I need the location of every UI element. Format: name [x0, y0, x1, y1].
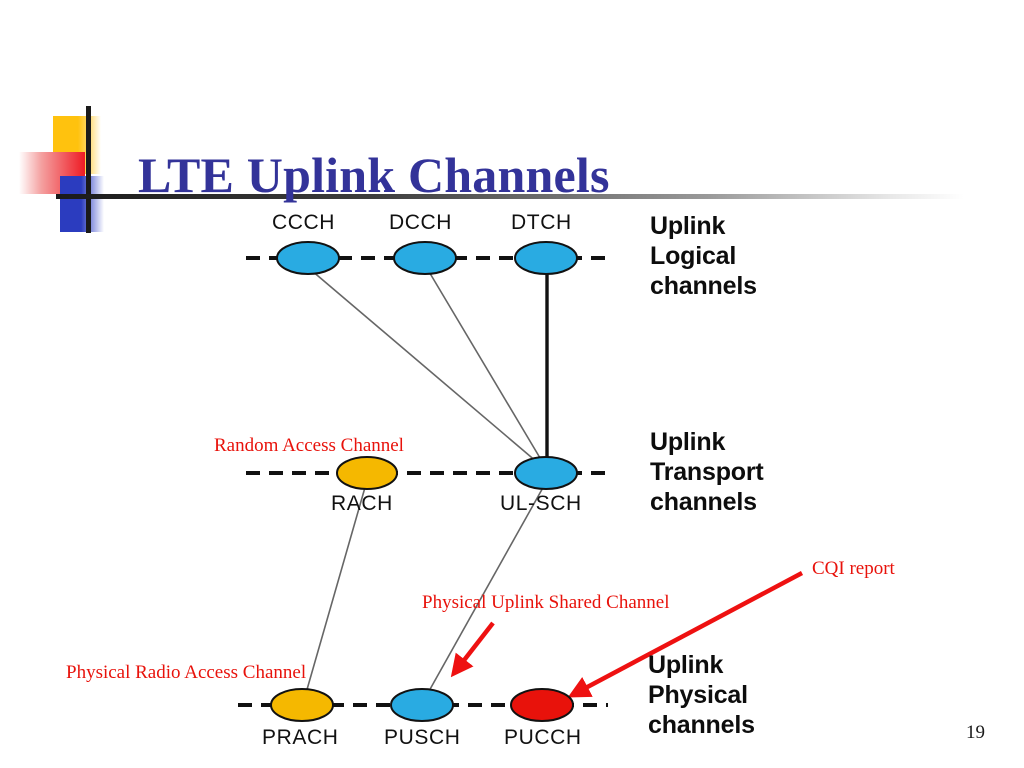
node-ul-sch[interactable] — [515, 457, 577, 489]
mapping-line-dcch-ulsch — [428, 270, 546, 468]
annotation-random-access-channel: Random Access Channel — [214, 435, 404, 457]
node-ccch[interactable] — [277, 242, 339, 274]
mapping-line-rach-prach — [304, 484, 366, 700]
row-label-logical: Uplink Logical channels — [650, 211, 757, 301]
node-caption-pusch: PUSCH — [384, 726, 461, 750]
row-label-logical-line-3: channels — [650, 271, 757, 301]
page-number: 19 — [966, 722, 985, 744]
row-label-physical-line-3: channels — [648, 710, 755, 740]
node-caption-ul-sch: UL-SCH — [500, 492, 582, 516]
annotation-cqi-report: CQI report — [812, 558, 895, 580]
row-label-transport-line-3: channels — [650, 487, 764, 517]
row-label-transport: Uplink Transport channels — [650, 427, 764, 517]
node-caption-pucch: PUCCH — [504, 726, 582, 750]
node-prach[interactable] — [271, 689, 333, 721]
diagram-canvas — [0, 0, 1024, 768]
node-caption-rach: RACH — [331, 492, 393, 516]
row-label-transport-line-2: Transport — [650, 457, 764, 487]
node-pucch[interactable] — [511, 689, 573, 721]
row-label-physical-line-2: Physical — [648, 680, 755, 710]
node-caption-ccch: CCCH — [272, 211, 335, 235]
row-label-logical-line-2: Logical — [650, 241, 757, 271]
annotation-physical-uplink-shared-channel: Physical Uplink Shared Channel — [422, 592, 670, 614]
lte-uplink-channel-diagram: CCCH DCCH DTCH RACH UL-SCH PRACH PUSCH P… — [0, 0, 1024, 768]
row-label-transport-line-1: Uplink — [650, 427, 764, 457]
annotation-physical-radio-access-channel: Physical Radio Access Channel — [66, 662, 306, 684]
node-caption-dtch: DTCH — [511, 211, 572, 235]
node-caption-prach: PRACH — [262, 726, 339, 750]
node-pusch[interactable] — [391, 689, 453, 721]
row-label-physical-line-1: Uplink — [648, 650, 755, 680]
row-label-physical: Uplink Physical channels — [648, 650, 755, 740]
node-rach[interactable] — [337, 457, 397, 489]
row-label-logical-line-1: Uplink — [650, 211, 757, 241]
node-dcch[interactable] — [394, 242, 456, 274]
node-caption-dcch: DCCH — [389, 211, 452, 235]
node-dtch[interactable] — [515, 242, 577, 274]
